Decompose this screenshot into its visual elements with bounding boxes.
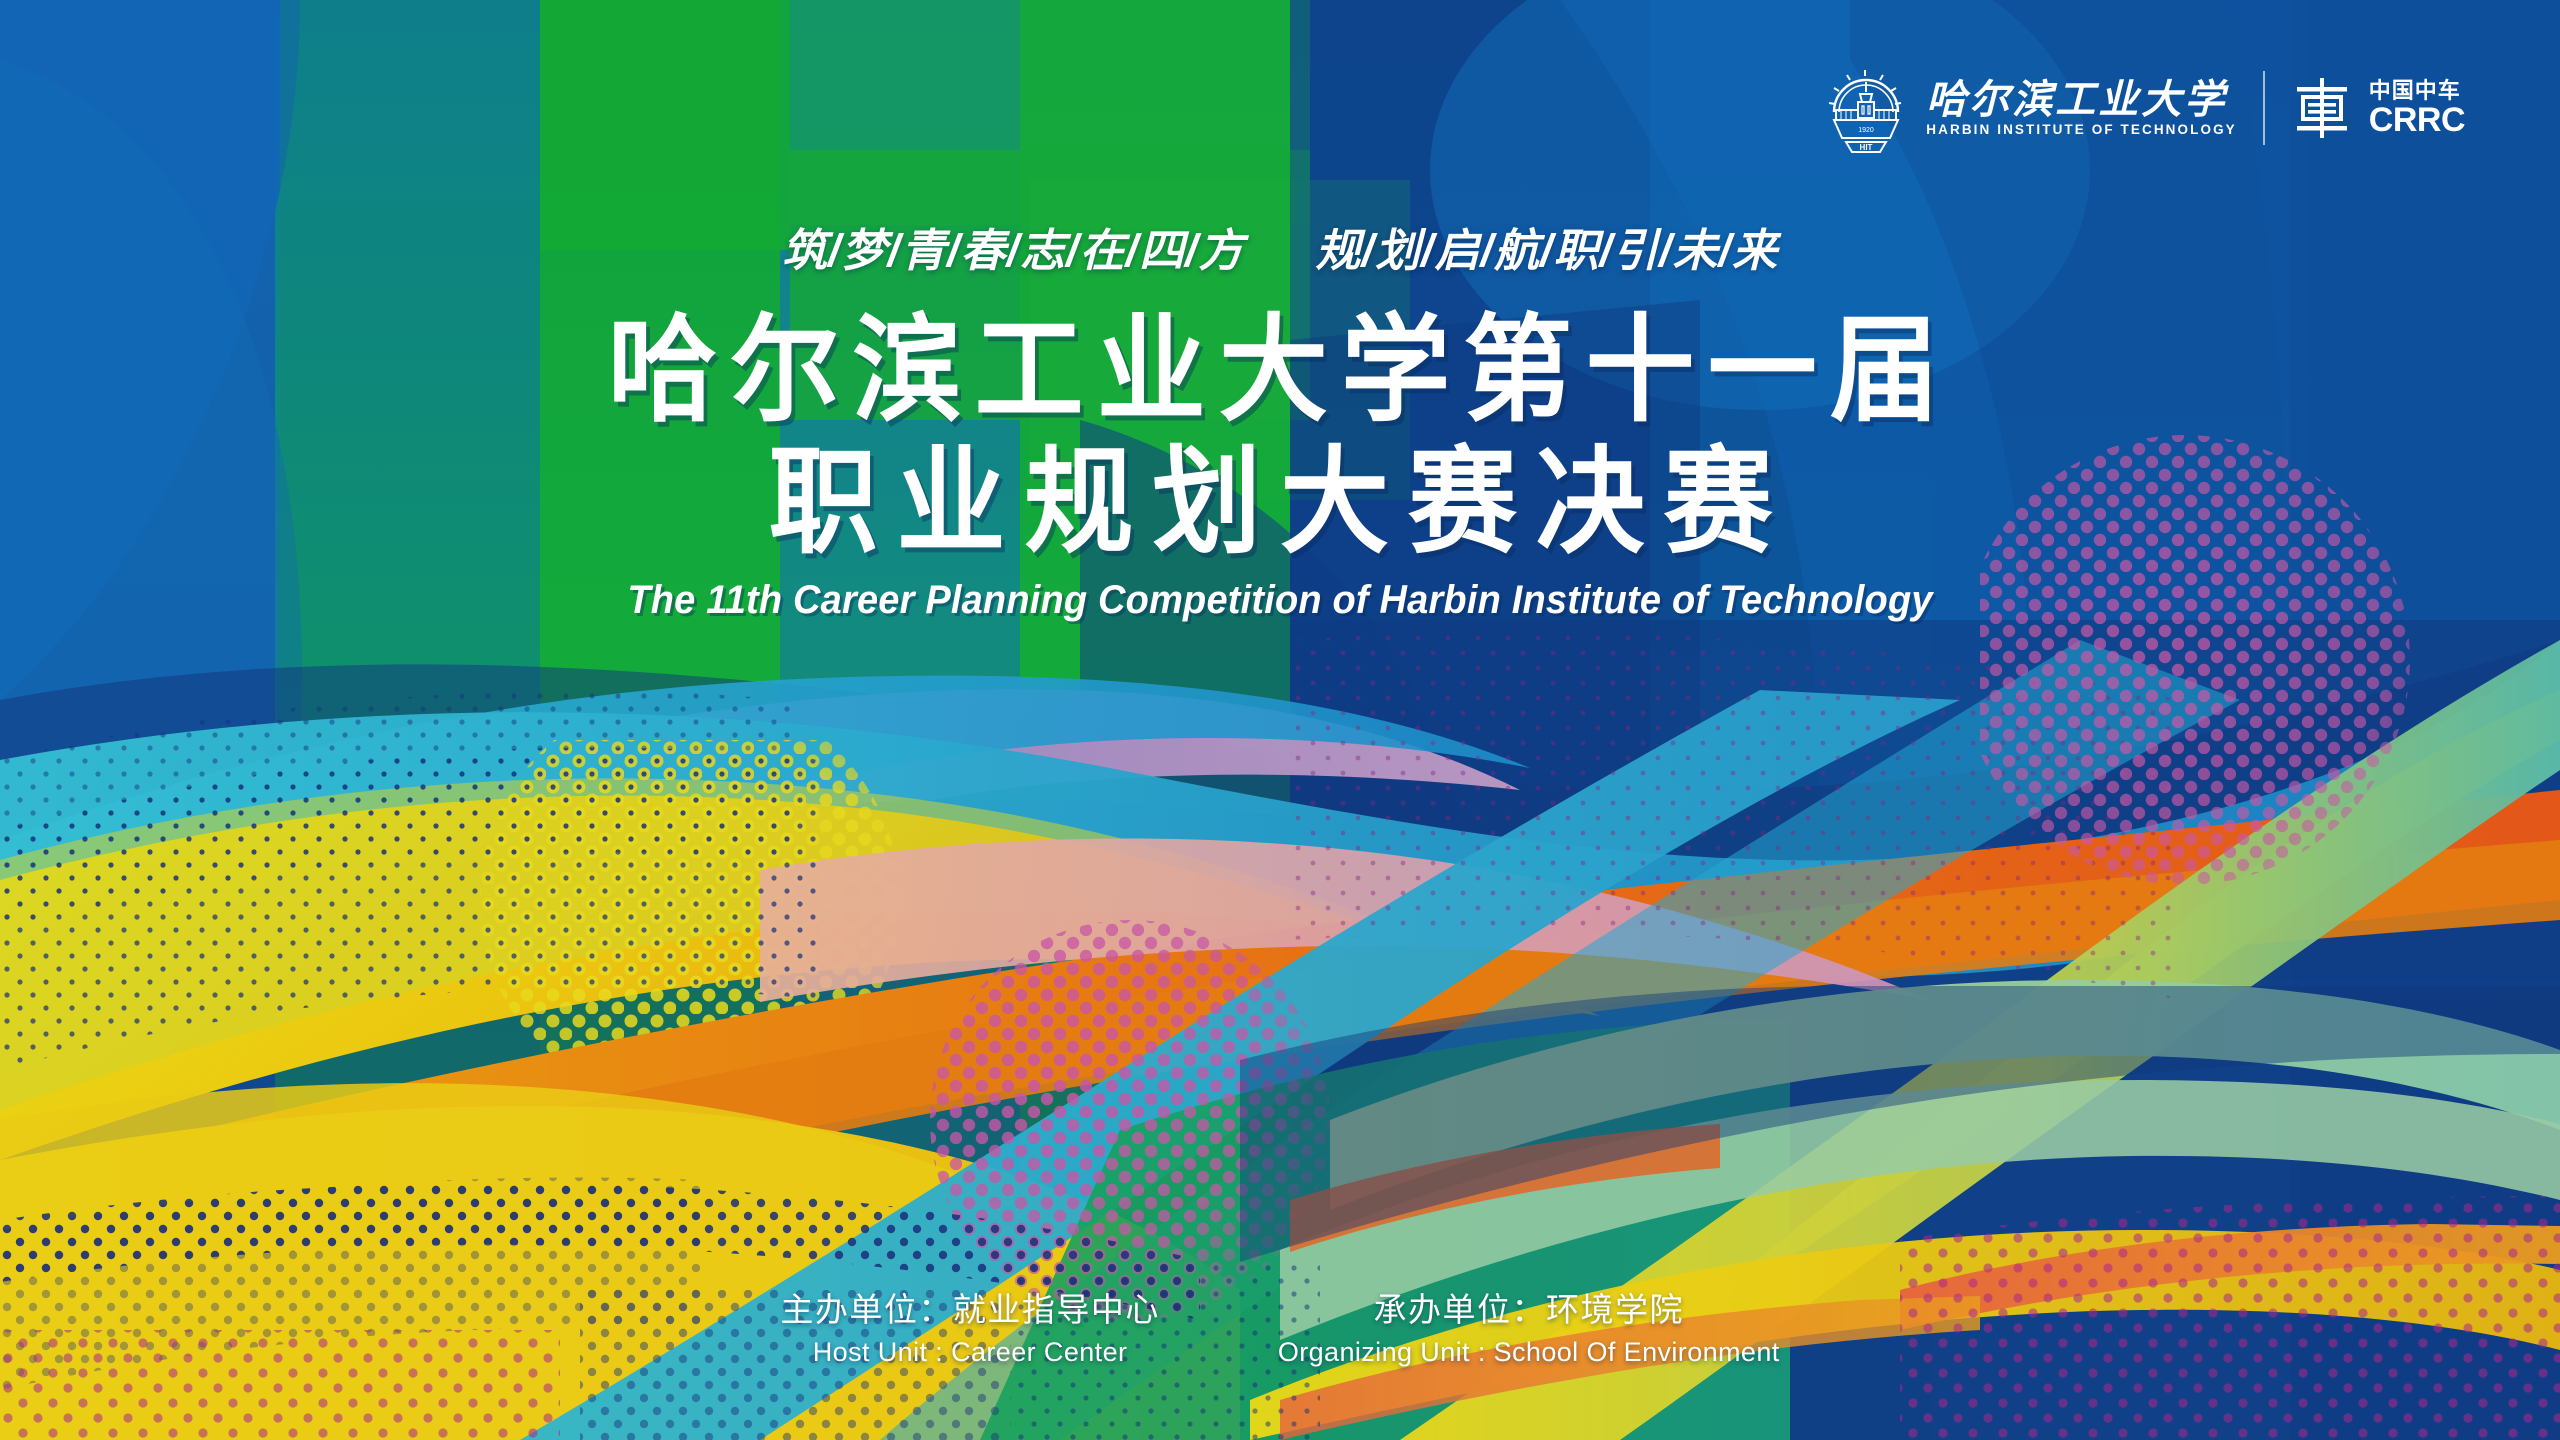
crrc-che-mark-icon [2291,77,2353,139]
credit-host-cn: 主办单位：就业指导中心 [780,1283,1160,1331]
svg-text:HIT: HIT [1860,143,1873,152]
crrc-name-en: CRRC [2369,103,2465,137]
hit-name-en: HARBIN INSTITUTE OF TECHNOLOGY [1926,123,2237,137]
credit-organizer-cn: 承办单位：环境学院 [1373,1283,1684,1331]
crrc-wordmark: 中国中车 CRRC [2369,79,2465,137]
slogan-line: 筑/梦/青/春/志/在/四/方 规/划/启/航/职/引/未/来 [0,228,2560,273]
vertical-divider-icon [2263,71,2265,145]
crrc-name-cn: 中国中车 [2369,79,2465,102]
credit-host: 主办单位：就业指导中心 Host Unit : Career Center [780,1283,1160,1368]
hit-name-cn: 哈尔滨工业大学 [1926,80,2237,120]
credit-host-en: Host Unit : Career Center [813,1337,1128,1368]
crrc-logo: 中国中车 CRRC [2291,77,2465,139]
credit-organizer: 承办单位：环境学院 Organizing Unit : School Of En… [1278,1283,1780,1368]
slogan-left: 筑/梦/青/春/志/在/四/方 [782,225,1245,276]
credits-row: 主办单位：就业指导中心 Host Unit : Career Center 承办… [0,1283,2560,1368]
svg-text:1920: 1920 [1858,127,1874,134]
logo-bar: 1920 HIT 哈尔滨工业大学 HARBIN INSTITUTE OF TEC… [1824,60,2465,156]
title-line-1: 哈尔滨工业大学第十一届 [77,311,2483,429]
slogan-right: 规/划/启/航/职/引/未/来 [1316,225,1779,276]
hit-crest-icon: 1920 HIT [1824,60,1908,156]
credit-organizer-en: Organizing Unit : School Of Environment [1278,1337,1780,1368]
title-line-2: 职业规划大赛决赛 [77,443,2483,561]
hit-logo: 1920 HIT 哈尔滨工业大学 HARBIN INSTITUTE OF TEC… [1824,60,2237,156]
headline-block: 筑/梦/青/春/志/在/四/方 规/划/启/航/职/引/未/来 哈尔滨工业大学第… [0,228,2560,623]
poster-canvas: 1920 HIT 哈尔滨工业大学 HARBIN INSTITUTE OF TEC… [0,0,2560,1440]
subtitle-en: The 11th Career Planning Competition of … [64,578,2496,623]
hit-wordmark: 哈尔滨工业大学 HARBIN INSTITUTE OF TECHNOLOGY [1926,80,2237,137]
background-artwork [0,0,2560,1440]
